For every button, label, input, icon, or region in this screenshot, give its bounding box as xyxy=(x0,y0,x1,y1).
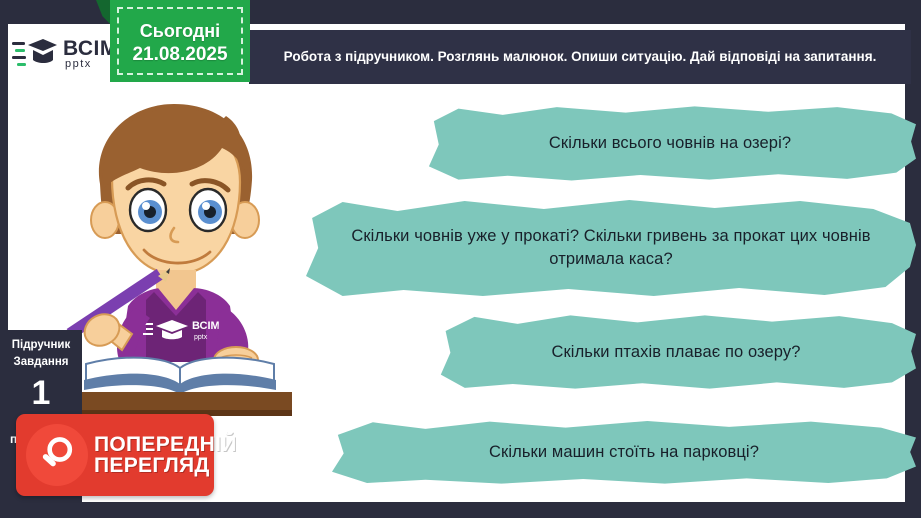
question-bubble-4-text: Скільки машин стоїть на парковці? xyxy=(489,441,759,464)
boy-writing-at-desk-illustration: ВСІМ pptx xyxy=(40,92,320,422)
today-date-badge: Сьогодні 21.08.2025 xyxy=(110,0,250,82)
today-label: Сьогодні xyxy=(140,21,220,42)
graduation-cap-icon xyxy=(12,35,58,73)
question-bubble-2-text: Скільки човнів уже у прокаті? Скільки гр… xyxy=(330,225,892,271)
instruction-header-bar: Робота з підручником. Розглянь малюнок. … xyxy=(249,30,911,84)
magnifier-icon xyxy=(26,424,88,486)
question-bubble-4[interactable]: Скільки машин стоїть на парковці? xyxy=(332,419,916,485)
preview-badge-line-1: ПОПЕРЕДНІЙ xyxy=(94,434,237,455)
question-bubble-3-text: Скільки птахів плаває по озеру? xyxy=(551,341,800,364)
task-panel-line-1: Підручник xyxy=(12,337,70,354)
task-panel-partial-text: п xyxy=(0,432,17,446)
svg-text:pptx: pptx xyxy=(194,334,208,341)
preview-badge-line-2: ПЕРЕГЛЯД xyxy=(94,455,237,476)
slide: ВСІМ pptx Скільки всього ч xyxy=(0,0,921,518)
task-panel-line-2: Завдання xyxy=(14,354,69,371)
instruction-text: Робота з підручником. Розглянь малюнок. … xyxy=(284,47,877,67)
task-number: 1 xyxy=(32,376,51,410)
question-bubble-1-text: Скільки всього човнів на озері? xyxy=(549,132,791,155)
question-bubble-3[interactable]: Скільки птахів плаває по озеру? xyxy=(436,313,916,391)
today-date: 21.08.2025 xyxy=(132,44,227,66)
svg-text:ВСІМ: ВСІМ xyxy=(192,320,220,332)
question-bubble-2[interactable]: Скільки човнів уже у прокаті? Скільки гр… xyxy=(306,198,916,298)
question-bubble-1[interactable]: Скільки всього човнів на озері? xyxy=(424,104,916,182)
preview-watermark-badge: ПОПЕРЕДНІЙ ПЕРЕГЛЯД xyxy=(16,414,214,496)
